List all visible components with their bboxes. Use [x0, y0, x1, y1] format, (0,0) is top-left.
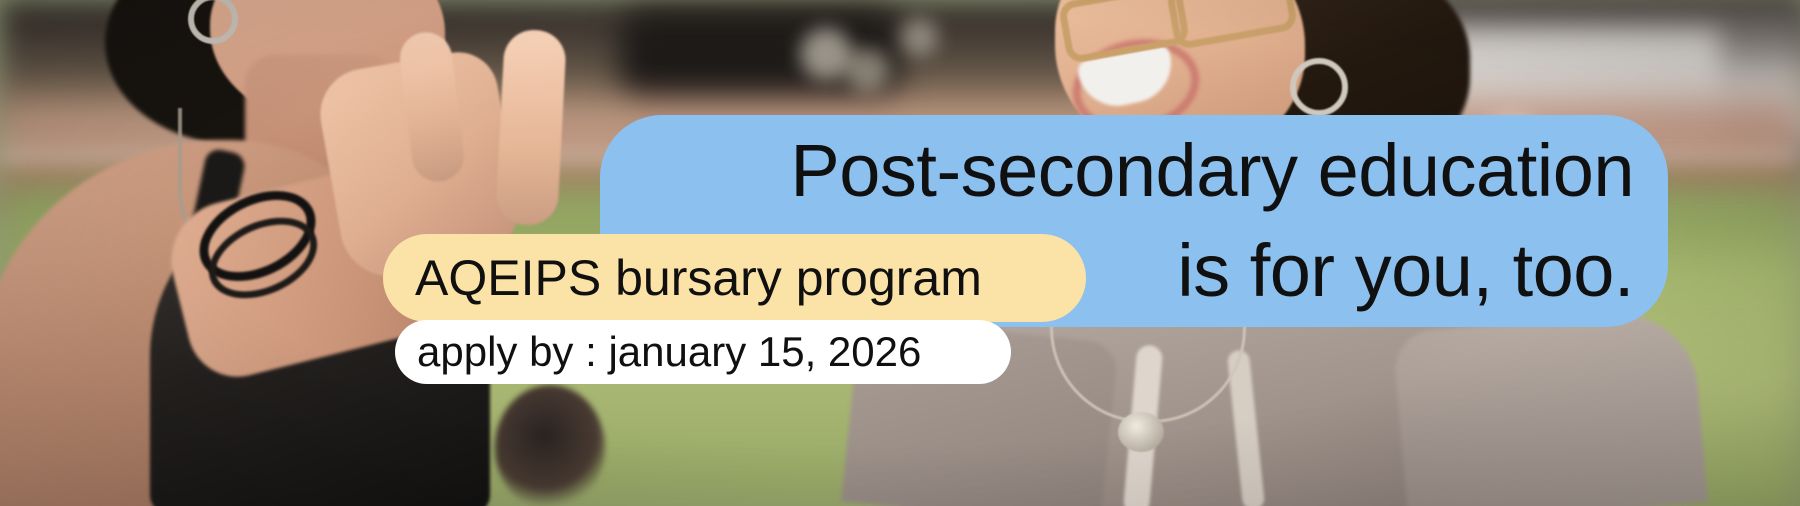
program-name-label: AQEIPS bursary program [415, 253, 982, 303]
application-deadline-badge: apply by : january 15, 2026 [395, 320, 1011, 384]
application-deadline-label: apply by : january 15, 2026 [417, 331, 921, 373]
headline-line-1: Post-secondary education [790, 134, 1634, 208]
headline-line-2: is for you, too. [1177, 234, 1634, 308]
program-name-badge: AQEIPS bursary program [383, 234, 1086, 322]
bursary-promo-banner: Post-secondary education is for you, too… [0, 0, 1800, 506]
